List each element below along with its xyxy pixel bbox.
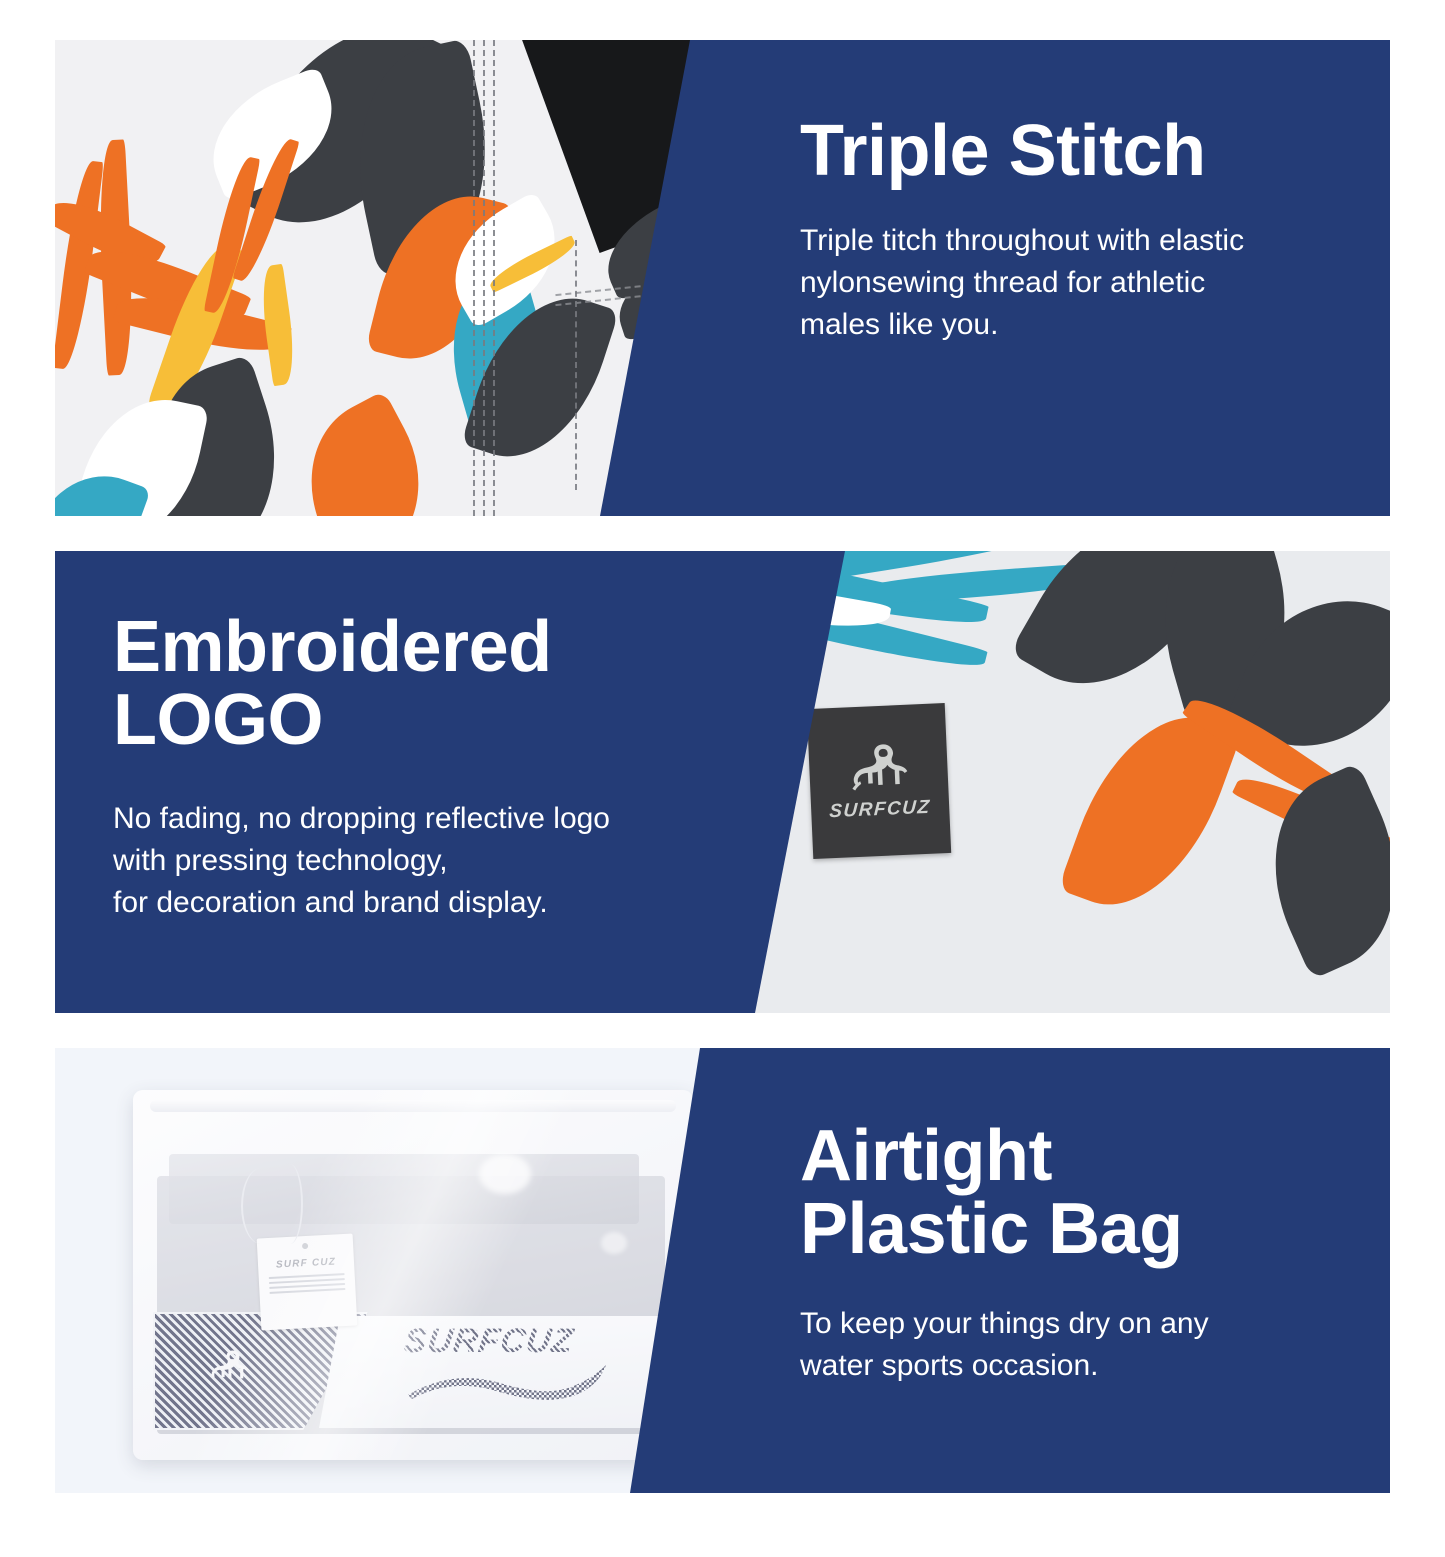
leaf-orange: [278, 390, 452, 516]
tag-brand-text: SURF CUZ: [264, 1256, 348, 1271]
bag-highlight: [479, 1154, 531, 1194]
copy-block-triple-stitch: Triple Stitch Triple titch throughout wi…: [800, 115, 1375, 346]
plastic-bag: SURFCUZ: [133, 1090, 693, 1460]
panel-body: No fading, no dropping reflective logo w…: [113, 798, 773, 924]
panel-headline: Airtight Plastic Bag: [800, 1120, 1375, 1267]
folded-shorts: [169, 1154, 639, 1224]
tag-spec-lines: [265, 1273, 350, 1294]
stitch-line: [493, 40, 495, 516]
panel-headline: Embroidered LOGO: [113, 611, 773, 758]
dinosaur-icon: [848, 740, 908, 794]
feature-panel-airtight-bag: SURFCUZ: [55, 1048, 1390, 1493]
dinosaur-icon: [209, 1348, 249, 1384]
panel-body: To keep your things dry on any water spo…: [800, 1303, 1375, 1387]
logo-patch: SURFCUZ: [807, 703, 951, 859]
tag-string: [277, 1164, 303, 1244]
stitch-line: [483, 40, 485, 516]
wave-swoosh-icon: [404, 1365, 634, 1411]
patch-brand-text: SURFCUZ: [829, 797, 932, 823]
tag-string: [241, 1168, 281, 1244]
copy-block-embroidered-logo: Embroidered LOGO No fading, no dropping …: [113, 611, 773, 924]
bag-brand-text: SURFCUZ: [401, 1322, 636, 1361]
feature-panel-triple-stitch: Triple Stitch Triple titch throughout wi…: [55, 40, 1390, 516]
hang-tag: SURF CUZ: [257, 1234, 358, 1331]
stitch-line: [473, 40, 475, 516]
bag-brand-mark: SURFCUZ: [404, 1322, 634, 1416]
product-feature-infographic: Triple Stitch Triple titch throughout wi…: [0, 0, 1445, 1557]
stitch-line: [575, 240, 577, 490]
copy-block-airtight-bag: Airtight Plastic Bag To keep your things…: [800, 1120, 1375, 1387]
bag-zipper: [150, 1100, 676, 1112]
bag-highlight: [601, 1232, 627, 1254]
panel-headline: Triple Stitch: [800, 115, 1375, 188]
bag-contents: SURFCUZ: [149, 1124, 677, 1444]
tag-hole: [302, 1243, 308, 1249]
feature-panel-embroidered-logo: SURFCUZ Embroidered LOGO No fading, no d…: [55, 551, 1390, 1013]
panel-body: Triple titch throughout with elastic nyl…: [800, 220, 1375, 346]
